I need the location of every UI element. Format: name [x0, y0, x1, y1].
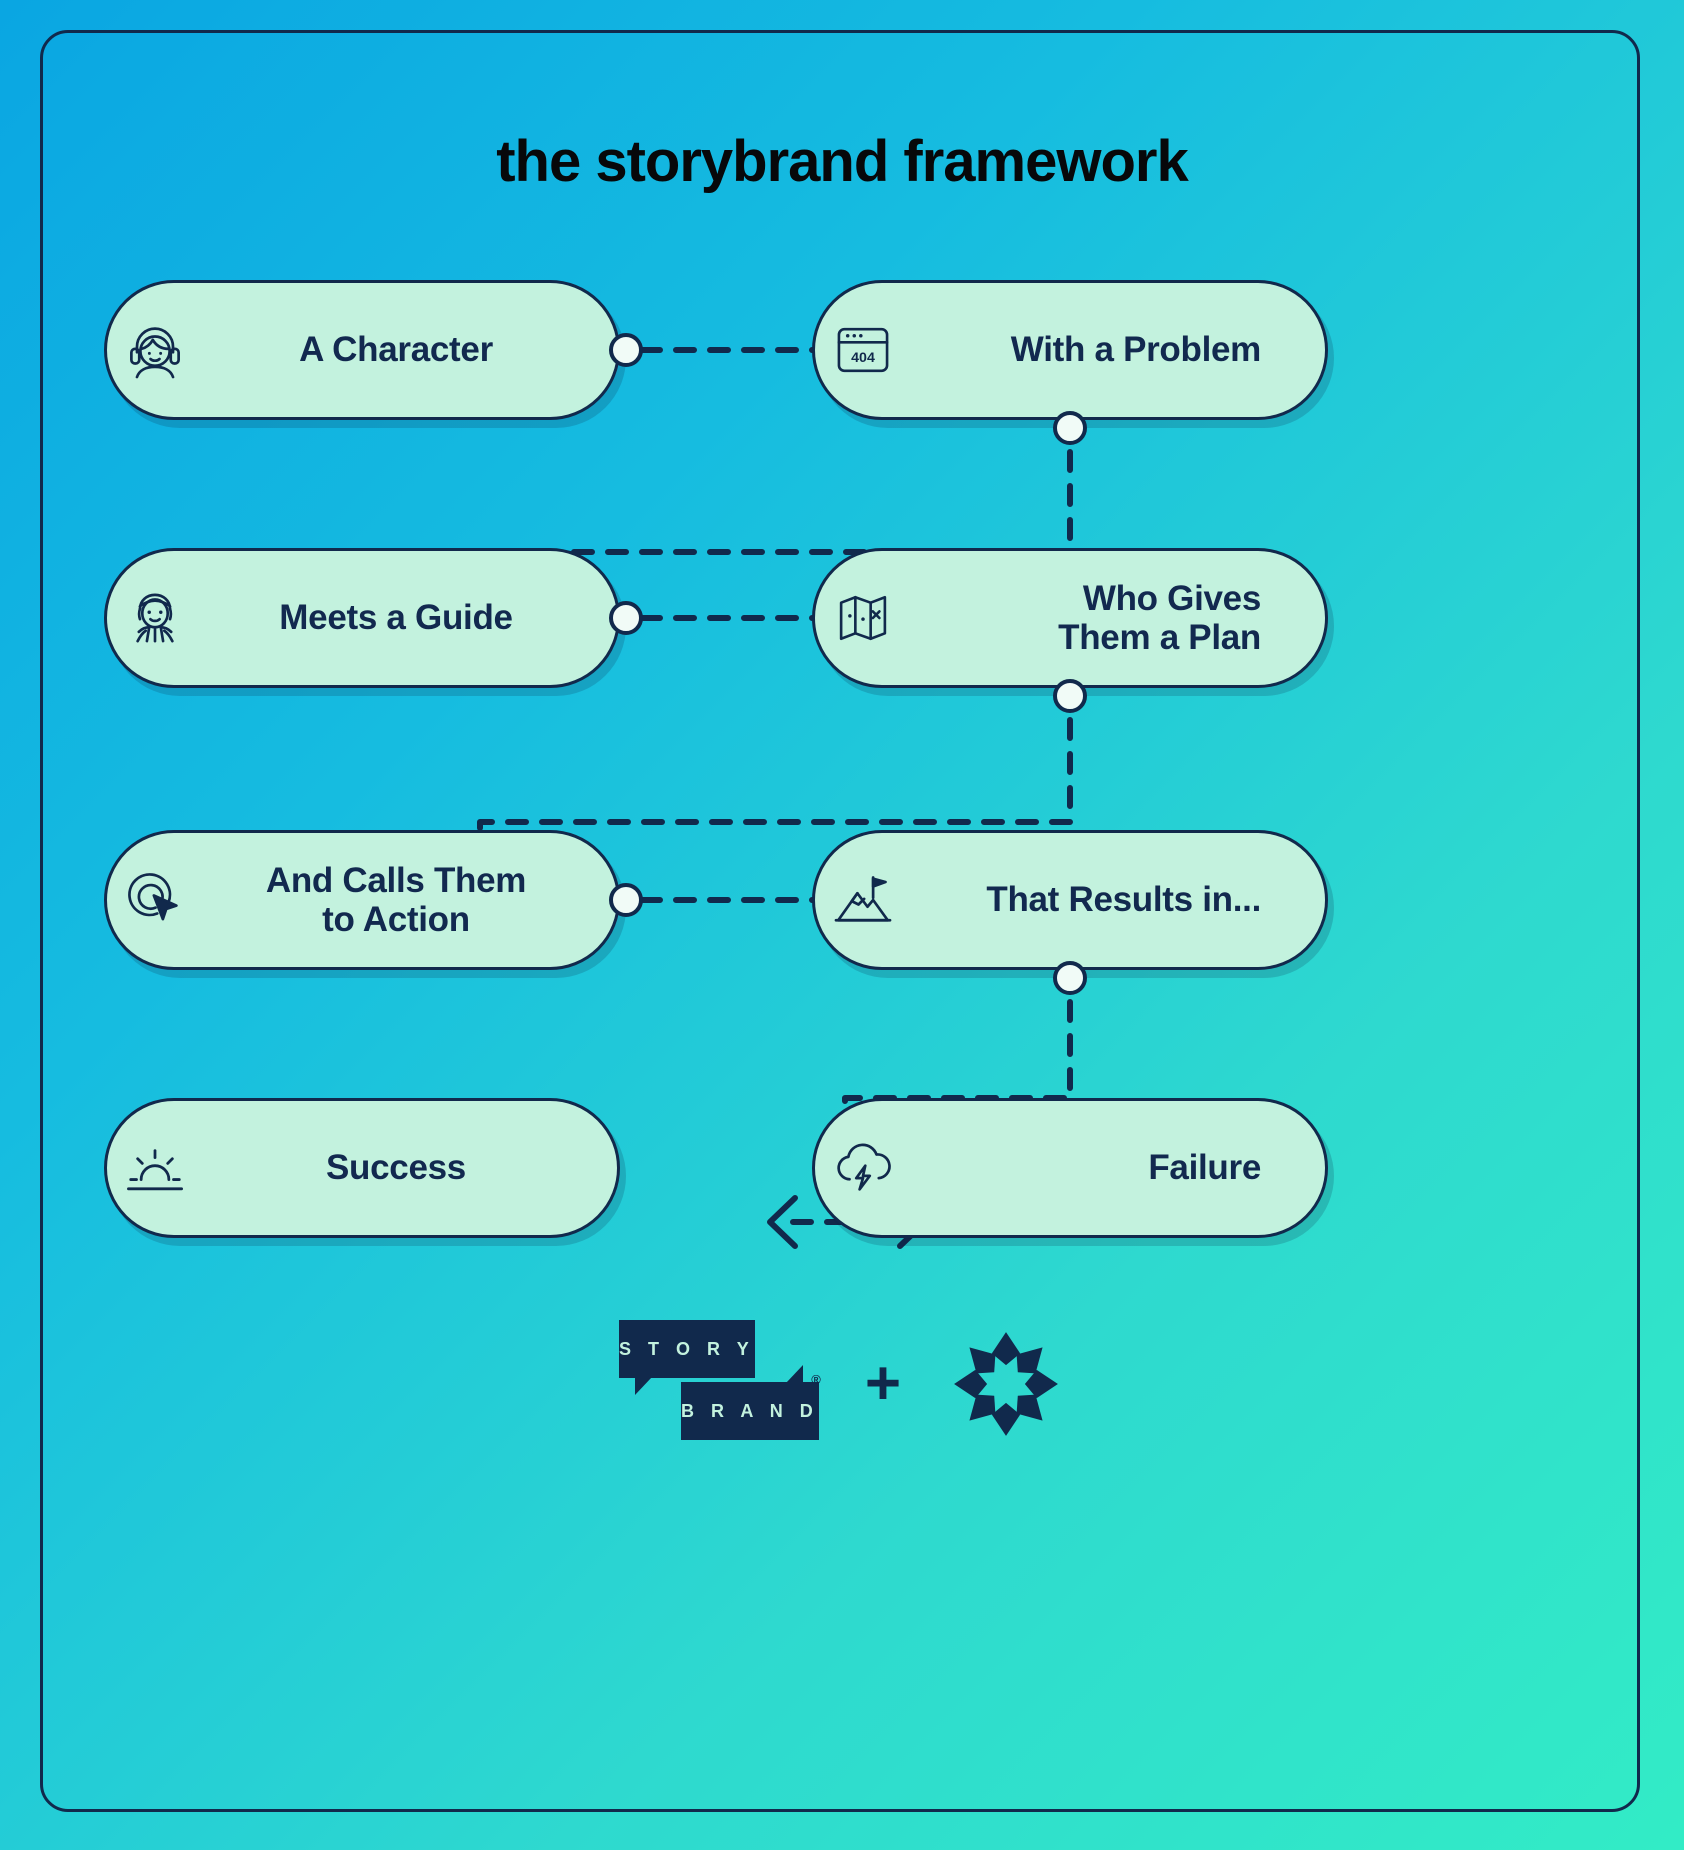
step-pill-failure[interactable]: Failure — [812, 1098, 1328, 1238]
node-character-out — [609, 333, 643, 367]
plus-sign: + — [865, 1353, 901, 1415]
page-title: the storybrand framework — [0, 128, 1684, 195]
headset-person-icon — [107, 283, 203, 417]
sunrise-icon — [107, 1101, 203, 1235]
node-guide-out — [609, 601, 643, 635]
infographic-canvas: the storybrand framework — [0, 0, 1684, 1850]
step-label-success: Success — [203, 1148, 617, 1187]
registered-trademark-mark: ® — [811, 1372, 821, 1387]
step-pill-guide[interactable]: Meets a Guide — [104, 548, 620, 688]
guide-face-icon — [107, 551, 203, 685]
step-pill-character[interactable]: A Character — [104, 280, 620, 420]
step-pill-call-to-action[interactable]: And Calls Them to Action — [104, 830, 620, 970]
footer-logos: S T O R Y B R A N D ® + — [0, 1320, 1684, 1448]
storybrand-logo: S T O R Y B R A N D ® — [619, 1320, 819, 1448]
svg-text:404: 404 — [851, 350, 875, 366]
node-plan-out — [1053, 679, 1087, 713]
browser-404-icon: 404 — [815, 283, 911, 417]
storybrand-logo-top-bubble: S T O R Y — [619, 1320, 755, 1378]
step-label-call-to-action: And Calls Them to Action — [203, 861, 617, 939]
step-label-results: That Results in... — [911, 880, 1325, 919]
storybrand-logo-bottom-bubble: B R A N D — [681, 1382, 819, 1440]
storm-cloud-icon — [815, 1101, 911, 1235]
step-label-plan: Who Gives Them a Plan — [911, 579, 1325, 657]
step-pill-plan[interactable]: Who Gives Them a Plan — [812, 548, 1328, 688]
node-call-out — [609, 883, 643, 917]
step-label-problem: With a Problem — [911, 330, 1325, 369]
step-pill-results[interactable]: That Results in... — [812, 830, 1328, 970]
step-label-failure: Failure — [911, 1148, 1325, 1187]
burst-asterisk-icon — [947, 1325, 1065, 1443]
map-icon — [815, 551, 911, 685]
step-label-call-text: And Calls Them to Action — [266, 861, 526, 939]
step-pill-success[interactable]: Success — [104, 1098, 620, 1238]
step-label-guide: Meets a Guide — [203, 598, 617, 637]
storybrand-word-brand: B R A N D — [681, 1401, 819, 1422]
step-pill-problem[interactable]: 404 With a Problem — [812, 280, 1328, 420]
click-cursor-icon — [107, 833, 203, 967]
storybrand-word-story: S T O R Y — [619, 1339, 755, 1360]
node-problem-out — [1053, 411, 1087, 445]
step-label-plan-text: Who Gives Them a Plan — [1058, 579, 1261, 657]
node-results-out — [1053, 961, 1087, 995]
mountain-flag-icon — [815, 833, 911, 967]
step-label-character: A Character — [203, 330, 617, 369]
